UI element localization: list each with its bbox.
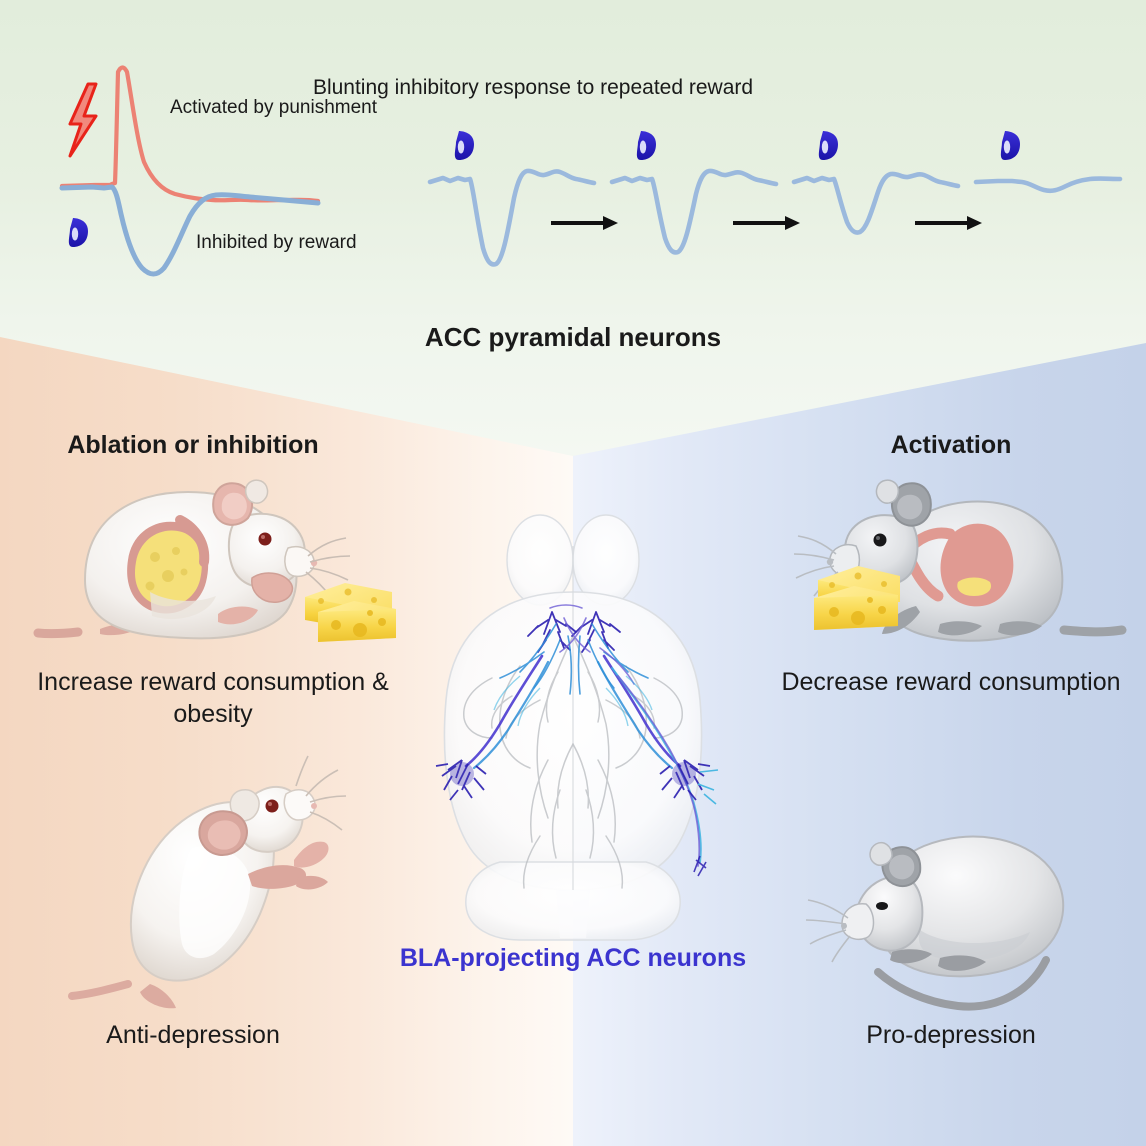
graphical-abstract-figure: Activated by punishment Inhibited by rew… (0, 0, 1146, 1146)
right-outcome-reward: Decrease reward consumption (761, 666, 1141, 698)
left-panel-heading: Ablation or inhibition (67, 431, 318, 460)
punishment-trace-label: Activated by punishment (170, 97, 377, 119)
brain-caption: BLA-projecting ACC neurons (273, 944, 873, 973)
right-panel-heading: Activation (891, 431, 1012, 460)
left-outcome-mood: Anti-depression (3, 1019, 383, 1051)
right-outcome-mood: Pro-depression (761, 1019, 1141, 1051)
left-outcome-reward: Increase reward consumption & obesity (23, 666, 403, 730)
reward-trace-label: Inhibited by reward (196, 232, 357, 254)
acc-pyramidal-neurons-title: ACC pyramidal neurons (425, 322, 721, 353)
blunting-panel-title: Blunting inhibitory response to repeated… (313, 76, 753, 100)
